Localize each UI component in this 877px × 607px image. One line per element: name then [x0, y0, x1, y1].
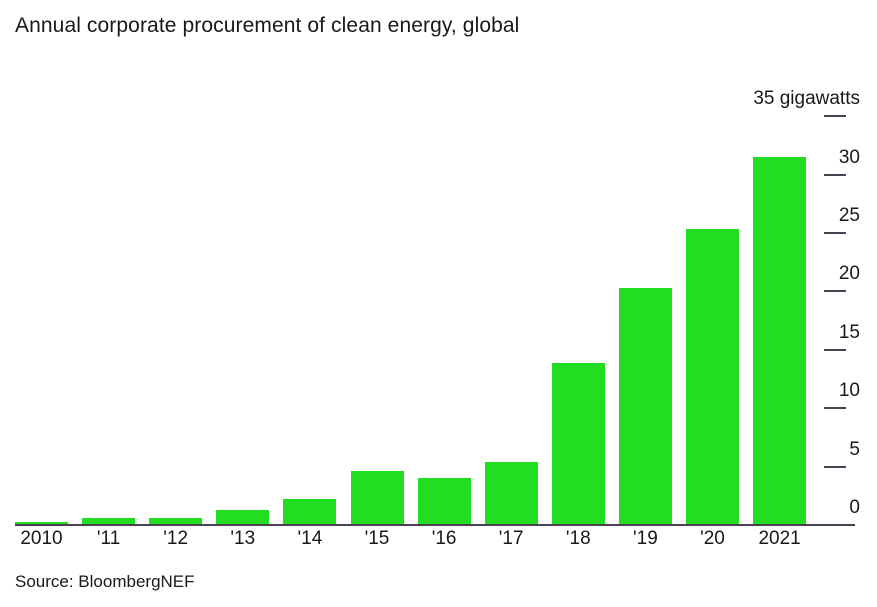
y-axis-tick-label: 10 [839, 380, 860, 402]
x-axis-tick-label: 2021 [746, 528, 813, 550]
bar [351, 471, 404, 524]
y-axis-tick-mark [824, 174, 846, 176]
y-axis-tick-mark [824, 115, 846, 117]
y-axis-tick-mark [824, 407, 846, 409]
bar [619, 288, 672, 524]
y-axis-tick-label: 5 [849, 439, 860, 461]
x-axis-tick-label: '16 [411, 528, 478, 550]
zero-baseline [15, 524, 855, 526]
x-axis-tick-label: 2010 [8, 528, 75, 550]
x-axis-tick-label: '14 [276, 528, 343, 550]
y-axis-tick-label: 0 [849, 497, 860, 519]
x-axis-tick-label: '17 [478, 528, 545, 550]
x-axis-tick-label: '19 [612, 528, 679, 550]
chart-source: Source: BloombergNEF [15, 572, 195, 592]
chart-title: Annual corporate procurement of clean en… [15, 14, 519, 38]
y-axis-tick-mark [824, 232, 846, 234]
y-axis-tick-mark [824, 290, 846, 292]
plot-area: 05101520253035 gigawatts [0, 100, 877, 526]
y-axis-tick-label: 15 [839, 322, 860, 344]
y-axis-tick-label: 25 [839, 205, 860, 227]
x-axis-tick-label: '12 [142, 528, 209, 550]
bar [686, 229, 739, 525]
y-axis-tick-mark [824, 349, 846, 351]
y-axis-tick-label: 30 [839, 147, 860, 169]
x-axis-tick-label: '18 [545, 528, 612, 550]
x-axis-tick-label: '13 [209, 528, 276, 550]
bar [216, 510, 269, 524]
y-axis-tick-mark [824, 466, 846, 468]
y-axis-tick-label: 20 [839, 263, 860, 285]
x-axis-tick-label: '20 [679, 528, 746, 550]
y-axis-tick-label: 35 gigawatts [753, 88, 860, 110]
bar [753, 157, 806, 524]
x-axis: 2010'11'12'13'14'15'16'17'18'19'202021 [0, 528, 877, 558]
bar [552, 363, 605, 524]
bar [283, 499, 336, 524]
chart-container: Annual corporate procurement of clean en… [0, 0, 877, 607]
y-axis: 05101520253035 gigawatts [824, 100, 877, 526]
x-axis-tick-label: '11 [75, 528, 142, 550]
bar [418, 478, 471, 524]
x-axis-tick-label: '15 [344, 528, 411, 550]
bars-group [0, 100, 877, 524]
bar [485, 462, 538, 524]
